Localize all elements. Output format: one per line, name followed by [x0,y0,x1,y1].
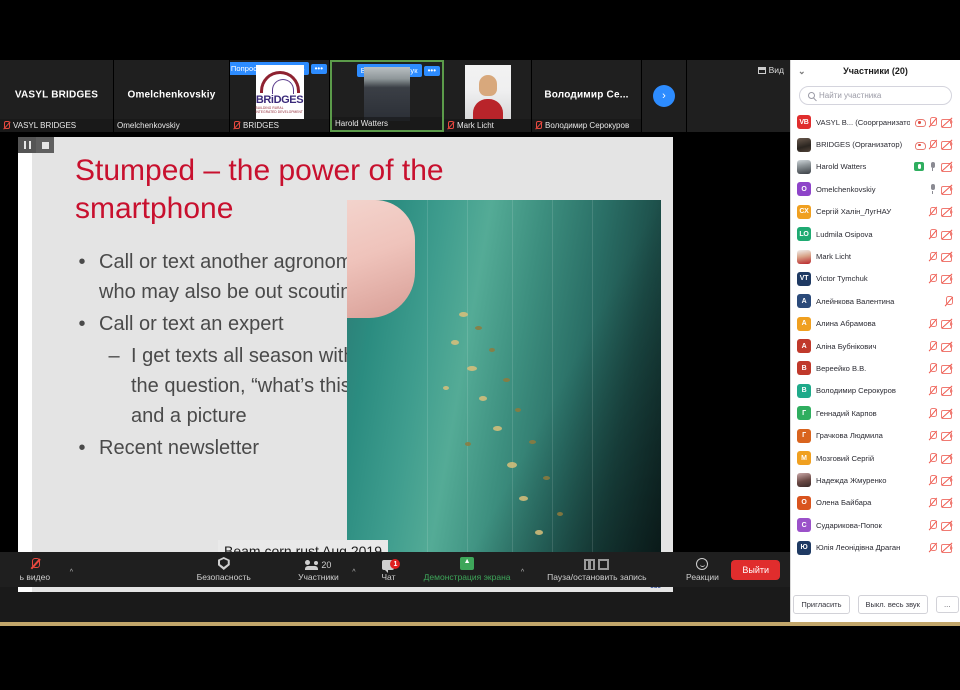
view-button-label: Вид [769,65,784,75]
participant-row[interactable]: BRIDGES (Организатор) [791,133,960,155]
avatar: LO [797,227,811,241]
invite-button[interactable]: Пригласить [793,595,849,614]
share-options-chevron[interactable]: ^ [521,569,524,576]
participant-row[interactable]: Harold Watters [791,156,960,178]
avatar [797,138,811,152]
pause-icon [584,559,595,570]
camera-off-icon[interactable] [941,140,953,149]
stop-icon [42,142,49,149]
participant-status-icons [928,543,953,553]
participant-status-icons [915,117,953,127]
participant-row[interactable]: VTVictor Tymchuk [791,268,960,290]
tile-footer-label: Harold Watters [335,119,388,128]
video-thumbnail-strip: VASYL BRIDGES VASYL BRIDGES Omelchenkovs… [0,60,790,132]
thumb-in-photo [347,200,415,318]
participant-row[interactable]: ССударикова-Попок [791,514,960,536]
participant-video-feed [465,65,511,119]
participant-status-icons [928,431,953,441]
tile-footer: Harold Watters [332,117,442,130]
recording-icon [584,557,609,570]
avatar [797,250,811,264]
corn-leaf-photo [347,200,661,585]
camera-off-icon[interactable] [941,543,953,552]
participant-row[interactable]: AАлейнкова Валентина [791,290,960,312]
control-participants[interactable]: 20 Участники [285,552,353,587]
tile-display-name: Omelchenkovskiy [114,89,229,100]
participant-status-icons [928,184,953,194]
bullet-text: Call or text an expert [99,309,284,339]
participant-name: Victor Tymchuk [816,274,923,283]
participant-name: Володимир Серокуров [816,386,923,395]
mic-off-icon [3,121,10,130]
mic-off-icon[interactable] [928,341,937,351]
stop-recording-button[interactable] [36,137,54,153]
search-placeholder: Найти участника [819,91,881,100]
participant-row[interactable]: ЮЮлія Леонідівна Драган [791,536,960,558]
view-button[interactable]: Вид [758,65,784,75]
participant-row[interactable]: AАліна Бубнікович [791,335,960,357]
screen-root: VASYL BRIDGES VASYL BRIDGES Omelchenkovs… [0,0,960,690]
participants-icon: 20 [305,557,331,570]
participant-status-icons [915,140,953,150]
video-tile-vasyl-bridges[interactable]: VASYL BRIDGES VASYL BRIDGES [0,60,114,132]
avatar: М [797,451,811,465]
tile-footer-label: Mark Licht [457,121,494,130]
participants-options-chevron[interactable]: ^ [352,569,355,576]
shield-icon [218,557,230,570]
video-camera-icon [30,557,40,570]
tile-footer: VASYL BRIDGES [0,119,113,132]
camera-off-icon[interactable] [941,409,953,418]
control-share-label: Демонстрация экрана [424,572,511,582]
participant-row[interactable]: Надежда Жмуренко [791,469,960,491]
avatar: A [797,317,811,331]
mic-off-icon[interactable] [928,319,937,329]
bridges-wordmark: BRiDGES [256,94,303,106]
participant-status-icons [928,386,953,396]
control-security-label: Безопасность [197,572,251,582]
mic-off-icon[interactable] [928,229,937,239]
bridges-logo: BRiDGES BUILDING RURAL INTEGRATED DEVELO… [256,65,304,119]
bullet-marker: • [75,433,89,463]
participant-status-icons [928,498,953,508]
mic-off-icon [535,121,542,130]
mic-on-icon[interactable] [928,184,937,194]
mic-off-icon[interactable] [928,453,937,463]
mic-off-icon[interactable] [928,498,937,508]
control-video-label: ь видео [20,572,50,582]
participant-video-feed [364,67,410,121]
participant-row[interactable]: ВВереейко В.В. [791,357,960,379]
participant-row[interactable]: AАлина Абрамова [791,313,960,335]
filmstrip-next-page-button[interactable]: › [642,60,687,132]
mic-off-icon[interactable] [928,475,937,485]
chat-unread-badge: 1 [390,559,400,569]
avatar: О [797,496,811,510]
participant-name: Надежда Жмуренко [816,476,923,485]
participants-count: 20 [321,560,331,570]
mic-off-icon[interactable] [928,520,937,530]
participant-status-icons [928,341,953,351]
camera-off-icon[interactable] [941,230,953,239]
pause-recording-button[interactable] [18,137,36,153]
participant-status-icons [928,229,953,239]
participant-status-icons [928,252,953,262]
mic-off-icon[interactable] [928,431,937,441]
chevron-down-icon[interactable]: ⌄ [798,66,806,77]
mic-off-icon[interactable] [928,252,937,262]
chevron-right-icon[interactable]: › [653,85,675,107]
camera-off-icon[interactable] [941,364,953,373]
camera-off-icon[interactable] [941,521,953,530]
participant-name: Harold Watters [816,162,909,171]
participant-name: Вереейко В.В. [816,364,923,373]
participant-name: Алина Абрамова [816,319,923,328]
camera-off-icon[interactable] [941,118,953,127]
tile-footer-label: BRIDGES [243,121,279,130]
camera-off-icon[interactable] [941,274,953,283]
participants-panel-header: ⌄ Участники (20) [791,60,960,82]
slide-bullet-item-sub: – I get texts all season with the questi… [75,341,385,431]
participant-name: Олена Байбара [816,498,923,507]
mic-off-icon[interactable] [928,543,937,553]
reactions-icon [696,557,708,570]
mic-off-icon[interactable] [928,363,937,373]
video-tile-bridges[interactable]: Попросить включить ••• BRiDGES BUILDING … [230,60,330,132]
participant-name: Mark Licht [816,252,923,261]
avatar [797,160,811,174]
participant-name: Алейнкова Валентина [816,297,939,306]
bullet-marker: • [75,309,89,339]
avatar: В [797,384,811,398]
participant-row[interactable]: CXСергій Халін_ЛугНАУ [791,201,960,223]
avatar: CX [797,205,811,219]
video-tile-harold-watters[interactable]: Выключить звук ••• Harold Watters [330,60,444,132]
avatar [797,473,811,487]
control-chat-label: Чат [381,572,395,582]
tile-footer: BRIDGES [230,119,329,132]
participant-status-icons [928,408,953,418]
slide-bullet-list: • Call or text another agronomist who ma… [75,247,385,465]
avatar: VT [797,272,811,286]
participant-row[interactable]: OOmelchenkovskiy [791,178,960,200]
video-options-chevron[interactable]: ^ [70,569,73,576]
participant-row[interactable]: ММозговий Сергій [791,447,960,469]
stop-icon [598,559,609,570]
control-security[interactable]: Безопасность [169,552,279,587]
control-pause-stop-recording[interactable]: Пауза/остановить запись [528,552,665,587]
video-tile-volodymyr-serokurov[interactable]: Володимир Се... Володимир Серокуров [532,60,642,132]
participants-panel: ⌄ Участники (20) Найти участника VBVASYL… [790,60,960,622]
tile-display-name: Володимир Се... [532,89,641,100]
control-reactions-label: Реакции [686,572,719,582]
recording-controls[interactable] [18,137,54,153]
slide-bullet-item: • Call or text an expert [75,309,385,339]
avatar: O [797,182,811,196]
mic-off-icon[interactable] [928,207,937,217]
participant-row[interactable]: LOLudmila Osipova [791,223,960,245]
tile-display-name: VASYL BRIDGES [0,89,113,100]
participant-name: Аліна Бубнікович [816,342,923,351]
avatar: С [797,518,811,532]
camera-off-icon[interactable] [941,207,953,216]
participant-name: Грачкова Людмила [816,431,923,440]
participant-status-icons [928,274,953,284]
recording-indicator-icon [915,141,924,149]
desktop-accent-bar [0,622,960,626]
camera-off-icon[interactable] [941,319,953,328]
presentation-slide: Stumped – the power of the smartphone • … [18,137,673,592]
participant-status-icons [928,363,953,373]
participant-name: Сергій Халін_ЛугНАУ [816,207,923,216]
control-participants-label: Участники [298,572,339,582]
camera-off-icon[interactable] [941,386,953,395]
mic-off-icon[interactable] [928,408,937,418]
camera-off-icon[interactable] [941,454,953,463]
bridges-arc-icon [260,71,300,93]
mic-off-icon[interactable] [944,296,953,306]
mic-off-icon[interactable] [928,386,937,396]
participant-status-icons [928,207,953,217]
participant-name: Мозговий Сергій [816,454,923,463]
tile-footer-label: Omelchenkovskiy [117,121,180,130]
zoom-meeting-window: VASYL BRIDGES VASYL BRIDGES Omelchenkovs… [0,60,790,622]
control-share-screen[interactable]: Демонстрация экрана [413,552,521,587]
tile-footer: Володимир Серокуров [532,119,641,132]
mic-off-icon [233,121,240,130]
mic-off-icon[interactable] [928,117,937,127]
shared-screen-area: Stumped – the power of the smartphone • … [0,132,790,587]
bullet-marker: – [107,341,121,431]
avatar: Г [797,429,811,443]
bullet-marker: • [75,247,89,307]
slide-canvas: Stumped – the power of the smartphone • … [32,137,673,592]
participant-status-icons [944,296,953,306]
participant-name: Сударикова-Попок [816,521,923,530]
camera-off-icon[interactable] [941,431,953,440]
participant-name: Ludmila Osipova [816,230,923,239]
meeting-control-bar: ь видео ^ Безопасность 20 Участники [0,552,790,587]
tile-footer: Omelchenkovskiy [114,119,229,132]
leave-meeting-button[interactable]: Выйти [731,560,780,580]
control-video[interactable]: ь видео [0,552,70,587]
avatar: A [797,294,811,308]
participant-name: Геннадий Карпов [816,409,923,418]
layout-icon [758,67,766,74]
control-chat[interactable]: 1 Чат [366,552,412,587]
tile-footer-label: VASYL BRIDGES [13,121,76,130]
mic-on-icon[interactable] [928,162,937,172]
participant-search-wrapper: Найти участника [791,82,960,111]
pause-icon [24,141,31,149]
participant-search-input[interactable]: Найти участника [799,86,952,105]
bullet-text: Call or text another agronomist who may … [99,247,385,307]
panel-more-button[interactable]: ... [936,596,959,613]
avatar: Г [797,406,811,420]
video-tile-mark-licht[interactable]: Mark Licht [444,60,532,132]
camera-off-icon[interactable] [941,498,953,507]
participant-row[interactable]: ГГеннадий Карпов [791,402,960,424]
tile-more-button[interactable]: ••• [311,64,327,74]
participant-row[interactable]: Mark Licht [791,245,960,267]
camera-off-icon[interactable] [941,162,953,171]
avatar: VB [797,115,811,129]
participant-row[interactable]: ООлена Байбара [791,492,960,514]
participant-status-icons [928,520,953,530]
bottom-strip [0,622,960,690]
participant-status-icons [928,319,953,329]
camera-off-icon[interactable] [941,185,953,194]
slide-bullet-item: • Call or text another agronomist who ma… [75,247,385,307]
participant-name: Юлія Леонідівна Драган [816,543,923,552]
camera-off-icon[interactable] [941,476,953,485]
mic-off-icon[interactable] [928,274,937,284]
control-reactions[interactable]: Реакции [674,552,732,587]
participant-row[interactable]: VBVASYL B... (Сооргранизатор, я) [791,111,960,133]
mic-off-icon[interactable] [928,140,937,150]
avatar: В [797,361,811,375]
participant-status-icons [928,475,953,485]
tile-footer: Mark Licht [444,119,531,132]
participants-list[interactable]: VBVASYL B... (Сооргранизатор, я)BRIDGES … [791,111,960,579]
chat-icon: 1 [382,557,394,570]
avatar: A [797,339,811,353]
share-screen-icon [460,557,474,570]
camera-off-icon[interactable] [941,252,953,261]
participants-panel-footer: Пригласить Выкл. весь звук ... [791,586,960,622]
video-tile-omelchenkovskiy[interactable]: Omelchenkovskiy Omelchenkovskiy [114,60,230,132]
participant-row[interactable]: ГГрачкова Людмила [791,424,960,446]
participant-row[interactable]: ВВолодимир Серокуров [791,380,960,402]
bullet-text: Recent newsletter [99,433,259,463]
slide-bullet-item: • Recent newsletter [75,433,385,463]
bridges-tagline: BUILDING RURAL INTEGRATED DEVELOPMENT [256,106,304,114]
avatar: Ю [797,541,811,555]
search-icon [808,92,815,99]
participant-status-icons [914,162,953,172]
participant-name: Omelchenkovskiy [816,185,923,194]
participant-name: VASYL B... (Сооргранизатор, я) [816,118,910,127]
tile-footer-label: Володимир Серокуров [545,121,629,130]
recording-indicator-icon [915,118,924,126]
control-recording-label: Пауза/остановить запись [547,572,647,582]
participant-status-icons [928,453,953,463]
participant-name: BRIDGES (Организатор) [816,140,910,149]
participants-panel-title: Участники (20) [843,66,908,76]
mic-off-icon [447,121,454,130]
camera-off-icon[interactable] [941,342,953,351]
mute-all-button[interactable]: Выкл. весь звук [858,595,928,614]
tile-more-button[interactable]: ••• [424,66,440,76]
screen-share-indicator-icon [914,162,924,171]
